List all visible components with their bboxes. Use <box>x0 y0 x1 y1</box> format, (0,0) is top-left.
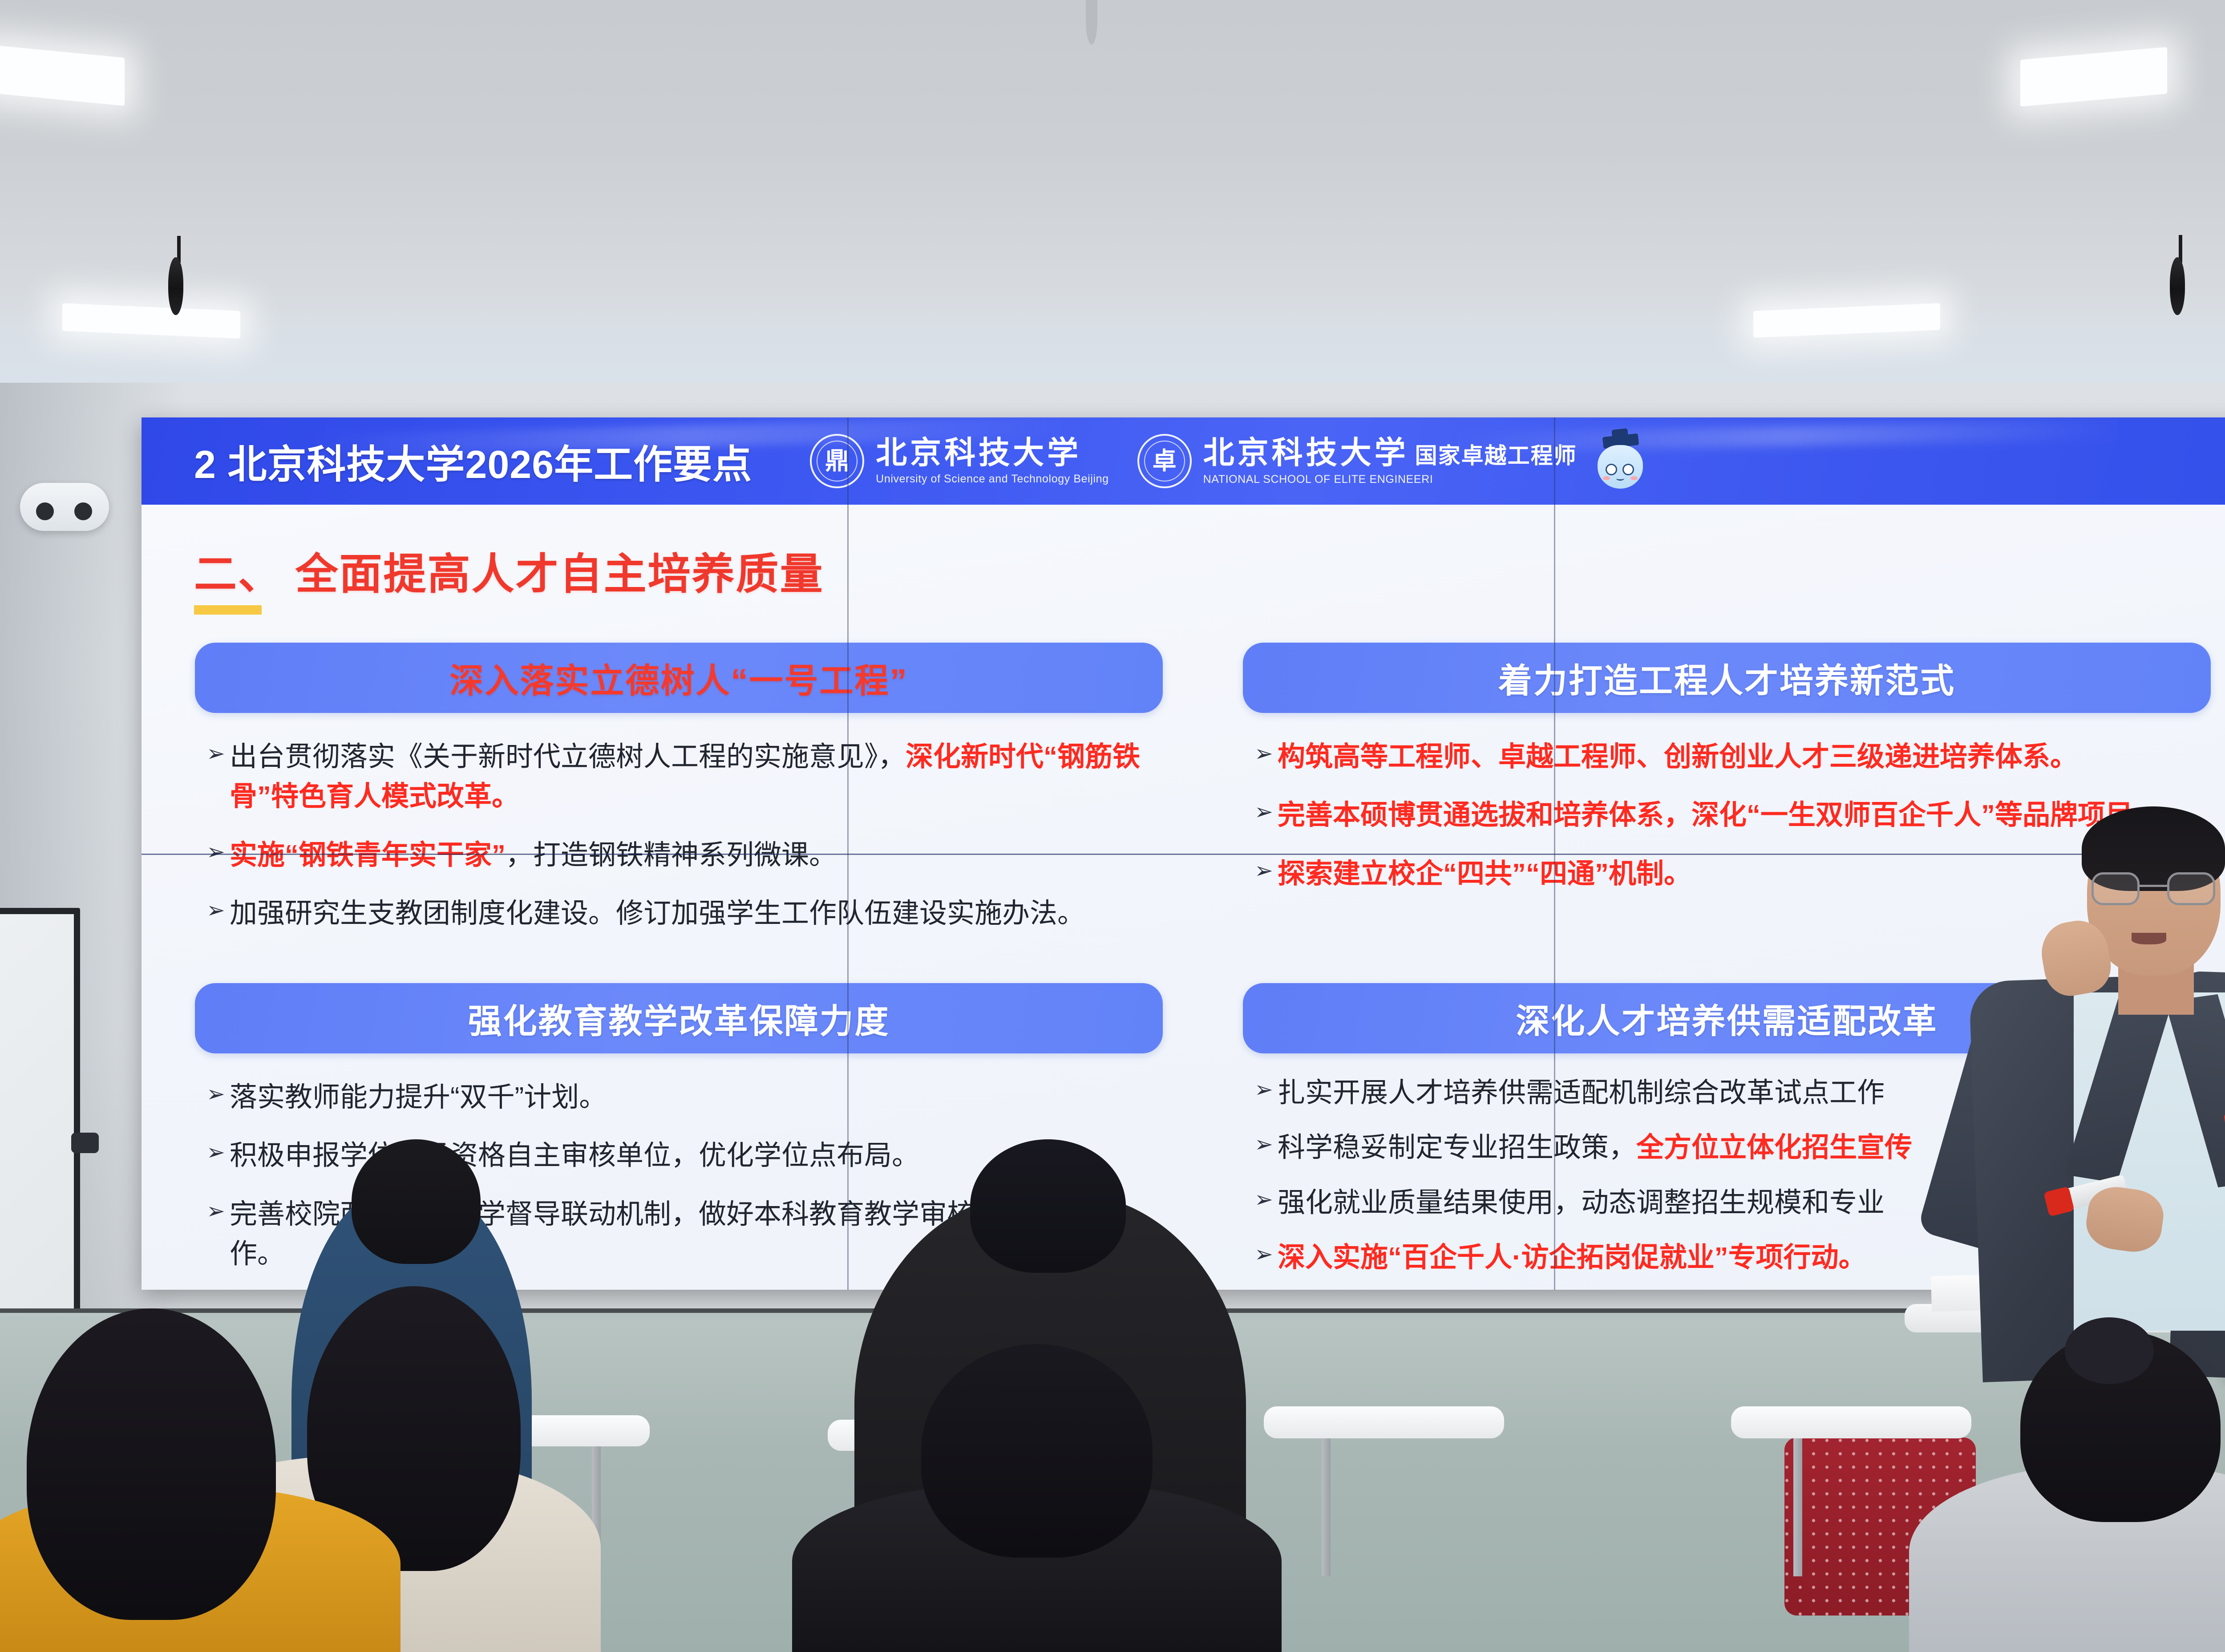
whiteboard-mount-knob <box>71 1133 99 1153</box>
section-title: 二、 全面提高人才自主培养质量 <box>194 539 824 601</box>
card-2: 着力打造工程人才培养新范式 ➢ 构筑高等工程师、卓越工程师、创新创业人才三级递进… <box>1243 643 2211 952</box>
content-grid: 深入落实立德树人“一号工程” ➢ 出台贯彻落实《关于新时代立德树人工程的实施意见… <box>195 643 2211 1248</box>
bullet-text: 落实教师能力提升“双千”计划。 <box>230 1077 607 1117</box>
dual-sensor-icon <box>20 483 109 531</box>
ustb-name-cn: 北京科技大学 <box>876 437 1108 470</box>
bullet-item: ➢ 加强研究生支教团制度化建设。修订加强学生工作队伍建设实施办法。 <box>206 894 1157 933</box>
bullet-arrow-icon: ➢ <box>1254 1133 1278 1155</box>
ustb-logo: 鼎 北京科技大学 University of Science and Techn… <box>810 434 1108 488</box>
bullet-segment: ，打造钢铁精神系列微课。 <box>506 840 837 871</box>
bullet-text: 实施“钢铁青年实干家”，打造钢铁精神系列微课。 <box>230 835 837 875</box>
ceiling-microphone-1 <box>168 257 183 315</box>
card-1: 深入落实立德树人“一号工程” ➢ 出台贯彻落实《关于新时代立德树人工程的实施意见… <box>195 643 1163 952</box>
student-desk <box>1731 1406 1971 1438</box>
bullet-item: ➢ 实施“钢铁青年实干家”，打造钢铁精神系列微课。 <box>206 835 1157 875</box>
bullet-segment: 出台贯彻落实《关于新时代立德树人工程的实施意见》， <box>230 741 906 772</box>
card-4-heading-text: 深化人才培养供需适配改革 <box>1516 994 1938 1043</box>
bullet-arrow-icon: ➢ <box>206 742 230 765</box>
section-title-underline <box>194 605 262 615</box>
card-3-heading: 强化教育教学改革保障力度 <box>195 983 1163 1053</box>
bullet-arrow-icon: ➢ <box>1254 1078 1278 1101</box>
bullet-text: 强化就业质量结果使用，动态调整招生规模和专业 <box>1278 1183 1885 1223</box>
card-2-heading-text: 着力打造工程人才培养新范式 <box>1498 653 1955 702</box>
bullet-item: ➢ 落实教师能力提升“双千”计划。 <box>206 1077 1157 1117</box>
slide-header: 2 北京科技大学2026年工作要点 鼎 北京科技大学 University of… <box>142 417 2225 505</box>
screen-glare-2 <box>1454 419 2122 453</box>
bullet-arrow-icon: ➢ <box>206 1200 230 1222</box>
bullet-item: ➢ 构筑高等工程师、卓越工程师、创新创业人才三级递进培养体系。 <box>1254 737 2205 777</box>
bullet-text: 完善本硕博贯通选拔和培养体系，深化“一生双师百企千人”等品牌项目。 <box>1278 795 2160 835</box>
card-1-body: ➢ 出台贯彻落实《关于新时代立德树人工程的实施意见》，深化新时代“钢筋铁骨”特色… <box>195 713 1163 933</box>
elite-school-name-en: NATIONAL SCHOOL OF ELITE ENGINEERI <box>1203 473 1577 486</box>
elite-school-seal-glyph: 卓 <box>1139 436 1190 486</box>
bullet-segment: 科学稳妥制定专业招生政策， <box>1278 1132 1636 1163</box>
elite-school-seal-icon: 卓 <box>1137 434 1192 488</box>
ustb-name-en: University of Science and Technology Bei… <box>876 473 1108 486</box>
elite-school-name-cn: 北京科技大学 <box>1203 437 1409 470</box>
card-2-heading: 着力打造工程人才培养新范式 <box>1243 643 2211 713</box>
bullet-text: 探索建立校企“四共”“四通”机制。 <box>1278 854 1691 894</box>
ustb-seal-icon: 鼎 <box>810 434 864 488</box>
bullet-text: 扎实开展人才培养供需适配机制综合改革试点工作 <box>1278 1073 1885 1113</box>
bullet-arrow-icon: ➢ <box>206 841 230 863</box>
bullet-arrow-icon: ➢ <box>206 1083 230 1105</box>
bullet-text: 深入实施“百企千人·访企拓岗促就业”专项行动。 <box>1278 1238 1866 1277</box>
bullet-arrow-icon: ➢ <box>206 899 230 921</box>
bullet-text: 出台贯彻落实《关于新时代立德树人工程的实施意见》，深化新时代“钢筋铁骨”特色育人… <box>230 737 1157 817</box>
card-2-body: ➢ 构筑高等工程师、卓越工程师、创新创业人才三级递进培养体系。 ➢ 完善本硕博贯… <box>1243 713 2211 894</box>
presenter-mouth <box>2132 933 2166 944</box>
hair-bun <box>2065 1317 2154 1384</box>
bullet-arrow-icon: ➢ <box>1254 1243 1278 1265</box>
bullet-arrow-icon: ➢ <box>1254 859 1278 882</box>
presenter-glasses-icon <box>2089 872 2219 905</box>
card-1-heading: 深入落实立德树人“一号工程” <box>195 643 1163 713</box>
bullet-segment-red: 全方位立体化招生宣传 <box>1636 1132 1912 1163</box>
robot-mascot-icon <box>1594 433 1646 490</box>
bullet-item: ➢ 出台贯彻落实《关于新时代立德树人工程的实施意见》，深化新时代“钢筋铁骨”特色… <box>206 737 1157 817</box>
bullet-arrow-icon: ➢ <box>1254 801 1278 823</box>
ceiling-microphone-2 <box>2170 257 2185 315</box>
bullet-segment-red: 实施“钢铁青年实干家” <box>230 840 506 871</box>
bullet-text: 科学稳妥制定专业招生政策，全方位立体化招生宣传 <box>1278 1128 1912 1167</box>
bullet-item: ➢ 完善本硕博贯通选拔和培养体系，深化“一生双师百企千人”等品牌项目。 <box>1254 795 2205 835</box>
whiteboard <box>0 908 80 1357</box>
bullet-text: 构筑高等工程师、卓越工程师、创新创业人才三级递进培养体系。 <box>1278 737 2078 777</box>
ceiling-sheen <box>0 285 2225 392</box>
card-1-heading-text: 深入落实立德树人“一号工程” <box>450 653 908 702</box>
bullet-arrow-icon: ➢ <box>1254 742 1278 765</box>
card-3-heading-text: 强化教育教学改革保障力度 <box>468 994 890 1043</box>
bullet-arrow-icon: ➢ <box>1254 1188 1278 1211</box>
bullet-text: 加强研究生支教团制度化建设。修订加强学生工作队伍建设实施办法。 <box>230 894 1085 933</box>
ustb-seal-glyph: 鼎 <box>812 436 862 486</box>
bullet-text: 积极申报学位授予资格自主审核单位，优化学位点布局。 <box>230 1136 919 1175</box>
bullet-item: ➢ 探索建立校企“四共”“四通”机制。 <box>1254 854 2205 894</box>
classroom-scene: 2 北京科技大学2026年工作要点 鼎 北京科技大学 University of… <box>0 0 2225 1652</box>
bullet-arrow-icon: ➢ <box>206 1141 230 1163</box>
student-desk <box>1264 1406 1504 1438</box>
